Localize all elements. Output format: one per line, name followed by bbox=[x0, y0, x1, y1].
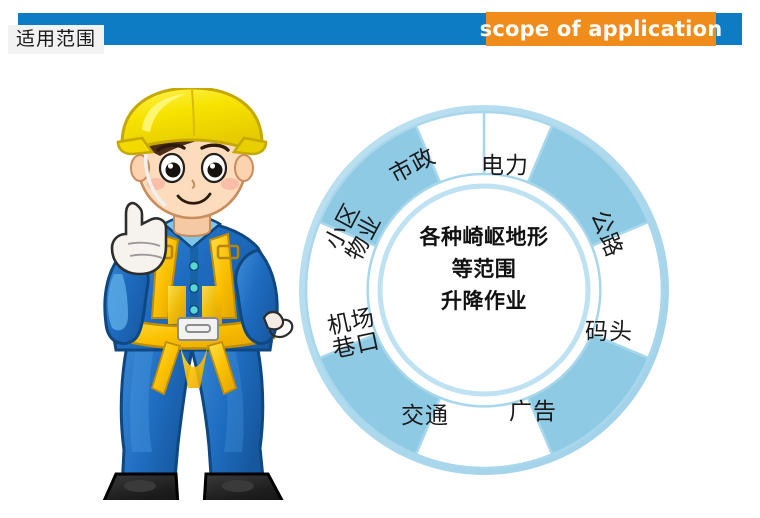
worker-right-cheek bbox=[221, 178, 239, 190]
donut-center-line-1: 各种崎岖地形 bbox=[384, 222, 584, 254]
donut-label-dock[interactable]: 码头 bbox=[570, 320, 648, 344]
slide-canvas: 适用范围 scope of application bbox=[0, 0, 760, 518]
donut-center-line-3: 升降作业 bbox=[384, 286, 584, 318]
worker-right-boot-tongue bbox=[222, 480, 254, 492]
cartoon-worker-illustration bbox=[82, 88, 307, 500]
worker-button bbox=[190, 306, 199, 315]
scope-donut-chart: 电力 公路 码头 广告 交通 机场 巷口 小区 物业 市政 各种崎岖地形 等范围… bbox=[298, 104, 670, 476]
page-title: 适用范围 bbox=[8, 25, 104, 54]
worker-right-eye-glint bbox=[210, 163, 215, 168]
worker-right-ear bbox=[235, 155, 253, 181]
worker-left-boot-tongue bbox=[124, 480, 156, 492]
worker-button bbox=[190, 262, 199, 271]
page-subtitle-badge: scope of application bbox=[486, 12, 716, 46]
worker-left-eye-glint bbox=[168, 163, 173, 168]
worker-right-hand bbox=[264, 312, 283, 329]
donut-label-transport[interactable]: 交通 bbox=[386, 404, 464, 428]
worker-left-pupil bbox=[166, 163, 181, 178]
donut-label-advertising[interactable]: 广告 bbox=[494, 400, 572, 424]
donut-label-electricity[interactable]: 电力 bbox=[466, 154, 544, 178]
worker-right-pupil bbox=[208, 163, 223, 178]
donut-center-line-2: 等范围 bbox=[384, 254, 584, 286]
worker-thumbs-up-hand bbox=[112, 203, 166, 274]
worker-button bbox=[190, 284, 199, 293]
worker-belt-buckle bbox=[178, 318, 218, 340]
donut-center-text: 各种崎岖地形 等范围 升降作业 bbox=[384, 222, 584, 318]
